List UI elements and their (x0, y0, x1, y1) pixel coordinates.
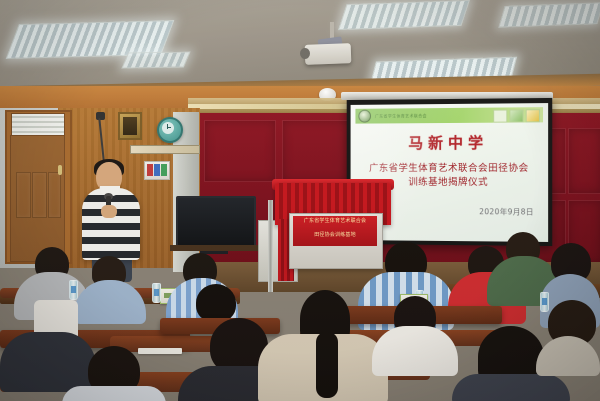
attendee-body (452, 374, 570, 401)
slide-icon-blank (493, 109, 507, 122)
water-bottle (69, 280, 78, 300)
attendee-body (0, 332, 96, 392)
attendee-body (372, 326, 458, 376)
water-bottle (152, 283, 161, 303)
ceiling-light-panel (121, 51, 190, 68)
plaque-line2: 田径协会训练基地 (293, 231, 377, 238)
presenter-hand (101, 205, 117, 218)
attendee-head (196, 284, 236, 322)
wall-panel (568, 128, 600, 194)
wall-poster (144, 161, 170, 180)
document-sheet (138, 348, 182, 354)
slide-icon-landscape (509, 109, 523, 122)
slide-header-text: 广东省学生体育艺术联合会 (375, 113, 427, 119)
attendee-body (74, 280, 146, 324)
wall-speaker (96, 112, 105, 120)
clock-face (162, 122, 174, 134)
slide-title: 马新中学 (351, 131, 549, 153)
water-bottle (540, 292, 549, 312)
attendee-body (62, 386, 166, 401)
transom-window (11, 113, 65, 137)
door-panel (48, 172, 61, 218)
attendee-body (536, 336, 600, 376)
framed-picture (118, 112, 142, 140)
organization-logo-icon (358, 110, 371, 123)
slide-header-bar: 广东省学生体育艺术联合会 (355, 107, 543, 123)
equipment-shelf (170, 245, 260, 251)
ceiling-light-panel (498, 2, 600, 27)
wall-panel (282, 120, 354, 182)
ceiling-projector (305, 43, 352, 65)
slide-icon-sun (526, 109, 540, 122)
clock-minute-hand (167, 127, 171, 128)
projector-lens-icon (300, 48, 310, 59)
ceiling-light-panel (338, 0, 470, 30)
door-panel (16, 172, 31, 218)
plaque-line1: 广东省学生体育艺术联合会 (293, 217, 377, 224)
slide-header-icons (493, 109, 540, 122)
door-panel (32, 172, 47, 218)
conference-room-photo: 广东省学生体育艺术联合会 马新中学 广东省学生体育艺术联合会田径协会 训练基地揭… (0, 0, 600, 401)
slide-date: 2020年9月8日 (479, 206, 534, 217)
black-display (176, 196, 256, 250)
metal-pole (268, 200, 273, 292)
attendee-ponytail (316, 332, 338, 398)
wall-sign-board (130, 145, 200, 154)
slide-subtitle-line1: 广东省学生体育艺术联合会田径协会 (351, 160, 549, 174)
wall-panel (204, 120, 276, 182)
door-handle[interactable] (58, 165, 62, 175)
